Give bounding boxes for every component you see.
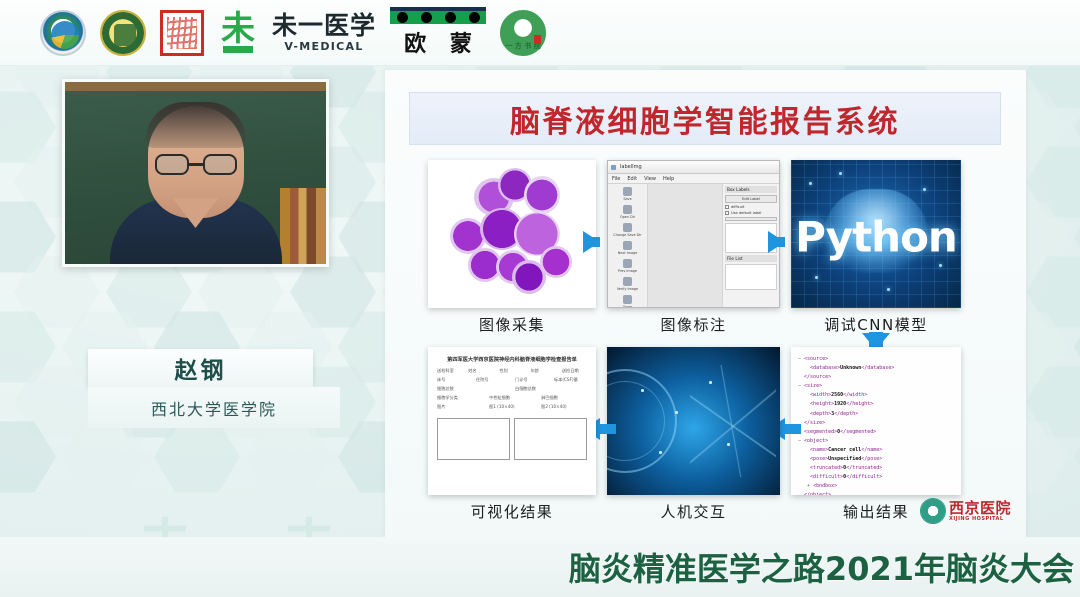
speaker-affiliation-card: 西北大学医学院 [88, 387, 340, 428]
tool-prev-image[interactable]: Prev Image [608, 259, 647, 273]
folder-icon [623, 205, 632, 214]
tool-label: Open Dir [620, 215, 635, 219]
network-node [727, 443, 730, 446]
green-circle-logo: 一 方 书 院 [500, 10, 546, 56]
report-field: 标本(CSF)量 [554, 377, 587, 383]
tool-save[interactable]: Save [608, 187, 647, 201]
tool-verify-image[interactable]: Verify Image [608, 277, 647, 291]
network-node [641, 389, 644, 392]
labelimg-titlebar: labelImg [608, 161, 779, 174]
xml-line: </source> [798, 373, 955, 382]
red-seal-logo [160, 10, 204, 56]
vmedical-en-label: V-MEDICAL [284, 41, 363, 52]
default-label-checkbox[interactable]: Use default label [725, 211, 777, 215]
report-image-boxes [437, 418, 587, 460]
circuit-node [839, 172, 842, 175]
xml-line: + <bndbox> [798, 482, 955, 491]
speaker-name: 赵钢 [175, 351, 227, 385]
network-node [675, 411, 678, 414]
bookshelf-decor [280, 188, 326, 264]
labelimg-title: labelImg [620, 164, 642, 170]
report-field: 图片 [437, 404, 483, 410]
arrow-right-icon [583, 231, 600, 253]
xml-line: − <object> [798, 437, 955, 446]
tool-next-image[interactable]: Next Image [608, 241, 647, 255]
report-image-slot [514, 418, 587, 460]
xml-line: − <source> [798, 355, 955, 364]
file-list-header: File List [725, 255, 777, 262]
weiyi-bar-icon [223, 46, 253, 53]
vmedical-logo: 未一医学 V-MEDICAL [272, 13, 376, 52]
euroimmun-cn-label: 欧 蒙 [396, 26, 480, 58]
xml-line: <pose>Unspecified</pose> [798, 455, 955, 464]
label-human-machine-interaction: 人机交互 [607, 501, 780, 522]
menu-view[interactable]: View [644, 176, 656, 182]
report-field: 住院号 [476, 377, 509, 383]
conference-banner: 脑炎精准医学之路2021年脑炎大会 [0, 537, 1080, 597]
panel-output-result[interactable]: − <source> <database>Unknown</database> … [791, 347, 961, 495]
report-field: 门诊号 [515, 377, 548, 383]
circuit-node [939, 264, 942, 267]
circuit-node [923, 188, 926, 191]
panel-image-annotation[interactable]: labelImg File Edit View Help Save Open D… [607, 160, 780, 308]
panel-image-acquisition[interactable] [428, 160, 596, 308]
verify-icon [623, 277, 632, 286]
checkbox-icon [725, 211, 729, 215]
app-icon [611, 165, 616, 170]
difficult-checkbox[interactable]: difficult [725, 205, 777, 209]
xml-line: <name>Cancer cell</name> [798, 446, 955, 455]
conference-title: 脑炎精准医学之路2021年脑炎大会 [569, 544, 1074, 590]
network-node [659, 451, 662, 454]
speaker-affiliation: 西北大学医学院 [151, 396, 277, 420]
xml-line: − <size> [798, 382, 955, 391]
report-field: 姓名 [468, 368, 493, 374]
zoom-icon [623, 295, 632, 304]
label-image-annotation: 图像标注 [607, 314, 780, 335]
hospital-name-en: XIJING HOSPITAL [949, 517, 1011, 522]
xml-line: <depth>3</depth> [798, 410, 955, 419]
weiyi-mark-logo: 未 [218, 10, 258, 56]
cell-blob [524, 176, 560, 214]
report-field: 性别 [499, 368, 524, 374]
euroimmun-bar-icon [390, 7, 486, 24]
report-field: 细胞学分类 [437, 395, 483, 401]
network-hand-icon [690, 365, 776, 477]
labelimg-menubar[interactable]: File Edit View Help [608, 174, 779, 184]
circuit-node [887, 288, 890, 291]
checkbox-label: Use default label [731, 211, 761, 215]
report-title: 第四军医大学西京医院神经内科脑脊液细胞学检查报告单 [434, 356, 590, 363]
hospital-watermark: 西京医院 XIJING HOSPITAL [920, 498, 1011, 524]
labelimg-toolbar[interactable]: Save Open Dir Change Save Dir Next Image… [608, 184, 648, 308]
report-row: 图片 图1 (10×40) 图2 (10×40) [437, 404, 587, 410]
report-field: 床号 [437, 377, 470, 383]
label-input[interactable] [725, 217, 777, 221]
tool-label: Verify Image [617, 287, 638, 291]
tool-label: Save [623, 197, 631, 201]
report-field: 细胞总数 [437, 386, 509, 392]
globe-emblem-logo [40, 10, 86, 56]
xml-line: </object> [798, 491, 955, 495]
tool-zoom[interactable]: Zoom [608, 295, 647, 308]
menu-help[interactable]: Help [663, 176, 674, 182]
report-field: 年龄 [531, 368, 556, 374]
xml-line: <difficult>0</difficult> [798, 473, 955, 482]
panel-visualization-result[interactable]: 第四军医大学西京医院神经内科脑脊液细胞学检查报告单 送检科室 姓名 性别 年龄 … [428, 347, 596, 495]
report-field: 送检日期 [562, 368, 587, 374]
xml-code-block: − <source> <database>Unknown</database> … [798, 355, 955, 495]
xml-line: <height>1920</height> [798, 400, 955, 409]
report-field: 中性粒细胞 [489, 395, 535, 401]
report-row: 细胞总数 白细胞总数 [437, 386, 587, 392]
weiyi-glyph: 未 [221, 13, 255, 45]
report-field: 图1 (10×40) [489, 404, 535, 410]
network-node [709, 381, 712, 384]
vmedical-cn-label: 未一医学 [272, 13, 376, 38]
menu-file[interactable]: File [612, 176, 620, 182]
tool-open-dir[interactable]: Open Dir [608, 205, 647, 219]
panel-cnn-model[interactable]: Python [791, 160, 961, 308]
checkbox-icon [725, 205, 729, 209]
page-title: 脑脊液细胞学智能报告系统 [510, 97, 900, 141]
euroimmun-logo: 欧 蒙 [390, 7, 486, 58]
menu-edit[interactable]: Edit [627, 176, 637, 182]
report-field: 图2 (10×40) [541, 404, 587, 410]
prev-icon [623, 259, 632, 268]
report-image-slot [437, 418, 510, 460]
checkbox-label: difficult [731, 205, 744, 209]
next-icon [623, 241, 632, 250]
label-visualization-result: 可视化结果 [428, 501, 596, 522]
gold-green-emblem-logo [100, 10, 146, 56]
tool-change-save-dir[interactable]: Change Save Dir [608, 223, 647, 237]
panel-human-machine-interaction[interactable] [607, 347, 780, 495]
speaker-name-card: 赵钢 [88, 349, 313, 387]
speaker-video-feed[interactable] [62, 79, 329, 267]
report-row: 床号 住院号 门诊号 标本(CSF)量 [437, 377, 587, 383]
tool-label: Prev Image [618, 269, 637, 273]
hospital-name-cn: 西京医院 [949, 501, 1011, 516]
report-field: 白细胞总数 [515, 386, 587, 392]
slide-title-box: 脑脊液细胞学智能报告系统 [409, 92, 1001, 145]
box-labels-header: Box Labels [725, 186, 777, 193]
folder-move-icon [623, 223, 632, 232]
report-field: 淋巴细胞 [541, 395, 587, 401]
circuit-node [815, 276, 818, 279]
green-circle-seal-icon [534, 35, 541, 44]
report-field: 送检科室 [437, 368, 462, 374]
xml-line: <database>Unknown</database> [798, 364, 955, 373]
sponsor-logo-bar: 未 未一医学 V-MEDICAL 欧 蒙 一 方 书 院 [0, 0, 1080, 66]
labelimg-body: Save Open Dir Change Save Dir Next Image… [608, 184, 779, 308]
glasses-icon [155, 154, 237, 175]
edit-label-button[interactable]: Edit Label [725, 195, 777, 203]
report-row: 细胞学分类 中性粒细胞 淋巴细胞 [437, 395, 587, 401]
cell-blob [540, 246, 572, 278]
save-icon [623, 187, 632, 196]
presentation-slide: 脑脊液细胞学智能报告系统 图像采集 labelImg File Edit Vie… [385, 70, 1026, 537]
xml-line: </size> [798, 419, 955, 428]
arrow-right-icon [768, 231, 785, 253]
tool-label: Zoom [623, 305, 633, 308]
labelimg-canvas[interactable] [648, 184, 723, 308]
report-row: 送检科室 姓名 性别 年龄 送检日期 [437, 368, 587, 374]
label-image-acquisition: 图像采集 [428, 314, 596, 335]
hospital-mark-icon [920, 498, 946, 524]
xml-line: <truncated>0</truncated> [798, 464, 955, 473]
python-label: Python [795, 212, 957, 261]
tool-label: Next Image [618, 251, 638, 255]
circuit-node [809, 182, 812, 185]
xml-line: <width>2560</width> [798, 391, 955, 400]
file-list[interactable] [725, 264, 777, 290]
tool-label: Change Save Dir [613, 233, 641, 237]
xml-line: <segmented>0</segmented> [798, 428, 955, 437]
